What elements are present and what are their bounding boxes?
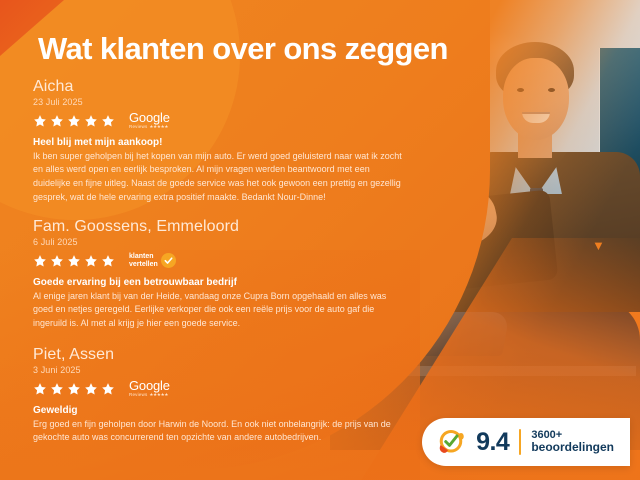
review-title: Heel blij met mijn aankoop! bbox=[33, 137, 405, 148]
star-icon bbox=[50, 114, 64, 128]
page-title: Wat klanten over ons zeggen bbox=[38, 31, 448, 67]
reviewer-name: Fam. Goossens, Emmeloord bbox=[33, 218, 405, 236]
rating-count-block: 3600+ beoordelingen bbox=[531, 429, 614, 456]
google-reviews-label: Reviews bbox=[129, 393, 147, 398]
kv-line-2: vertellen bbox=[129, 261, 158, 269]
google-reviews-sub: Reviews ★★★★★ bbox=[129, 393, 170, 398]
review-count-label: beoordelingen bbox=[531, 441, 614, 455]
banner-content: Wat klanten over ons zeggen Aicha 23 Jul… bbox=[0, 0, 640, 480]
rating-score: 9.4 bbox=[476, 428, 509, 457]
review-meta: Google Reviews ★★★★★ bbox=[33, 379, 405, 399]
review-card: Aicha 23 Juli 2025 Google Reviews ★★★★★ bbox=[33, 78, 405, 204]
star-rating bbox=[33, 382, 115, 396]
review-meta: Google Reviews ★★★★★ bbox=[33, 111, 405, 131]
review-title: Geweldig bbox=[33, 405, 405, 416]
star-icon bbox=[101, 382, 115, 396]
star-icon bbox=[50, 254, 64, 268]
star-rating bbox=[33, 114, 115, 128]
star-icon bbox=[84, 114, 98, 128]
checkmark-badge-icon bbox=[161, 253, 176, 268]
star-icon bbox=[50, 382, 64, 396]
google-wordmark: Google bbox=[129, 379, 170, 392]
review-body: Al enige jaren klant bij van der Heide, … bbox=[33, 290, 405, 331]
star-icon bbox=[67, 254, 81, 268]
review-title: Goede ervaring bij een betrouwbaar bedri… bbox=[33, 277, 405, 288]
google-wordmark: Google bbox=[129, 111, 170, 124]
kv-line-1: klanten bbox=[129, 253, 158, 261]
review-body: Erg goed en fijn geholpen door Harwin de… bbox=[33, 418, 405, 445]
google-reviews-label: Reviews bbox=[129, 125, 147, 130]
google-reviews-logo: Google Reviews ★★★★★ bbox=[129, 379, 170, 398]
star-icon bbox=[33, 382, 47, 396]
star-icon bbox=[67, 114, 81, 128]
rating-badge: 9.4 3600+ beoordelingen bbox=[422, 418, 630, 466]
review-card: Fam. Goossens, Emmeloord 6 Juli 2025 kla… bbox=[33, 218, 405, 331]
klantenvertellen-seal-icon bbox=[436, 427, 466, 457]
review-date: 6 Juli 2025 bbox=[33, 237, 405, 247]
review-body: Ik ben super geholpen bij het kopen van … bbox=[33, 150, 405, 205]
star-icon bbox=[101, 114, 115, 128]
star-icon bbox=[33, 114, 47, 128]
divider bbox=[519, 429, 521, 455]
testimonials-banner: ▼ Wat klanten over ons zeggen Aicha 23 J… bbox=[0, 0, 640, 480]
star-icon bbox=[101, 254, 115, 268]
review-date: 23 Juli 2025 bbox=[33, 97, 405, 107]
klantenvertellen-wordmark: klanten vertellen bbox=[129, 253, 158, 269]
mini-stars-icon: ★★★★★ bbox=[149, 125, 168, 130]
review-card: Piet, Assen 3 Juni 2025 Google Reviews ★… bbox=[33, 346, 405, 445]
google-reviews-sub: Reviews ★★★★★ bbox=[129, 125, 170, 130]
klantenvertellen-logo: klanten vertellen bbox=[129, 253, 176, 269]
mini-stars-icon: ★★★★★ bbox=[149, 393, 168, 398]
star-icon bbox=[84, 254, 98, 268]
reviewer-name: Aicha bbox=[33, 78, 405, 96]
star-icon bbox=[84, 382, 98, 396]
star-rating bbox=[33, 254, 115, 268]
star-icon bbox=[67, 382, 81, 396]
star-icon bbox=[33, 254, 47, 268]
google-reviews-logo: Google Reviews ★★★★★ bbox=[129, 111, 170, 130]
review-meta: klanten vertellen bbox=[33, 251, 405, 271]
review-date: 3 Juni 2025 bbox=[33, 365, 405, 375]
reviewer-name: Piet, Assen bbox=[33, 346, 405, 364]
